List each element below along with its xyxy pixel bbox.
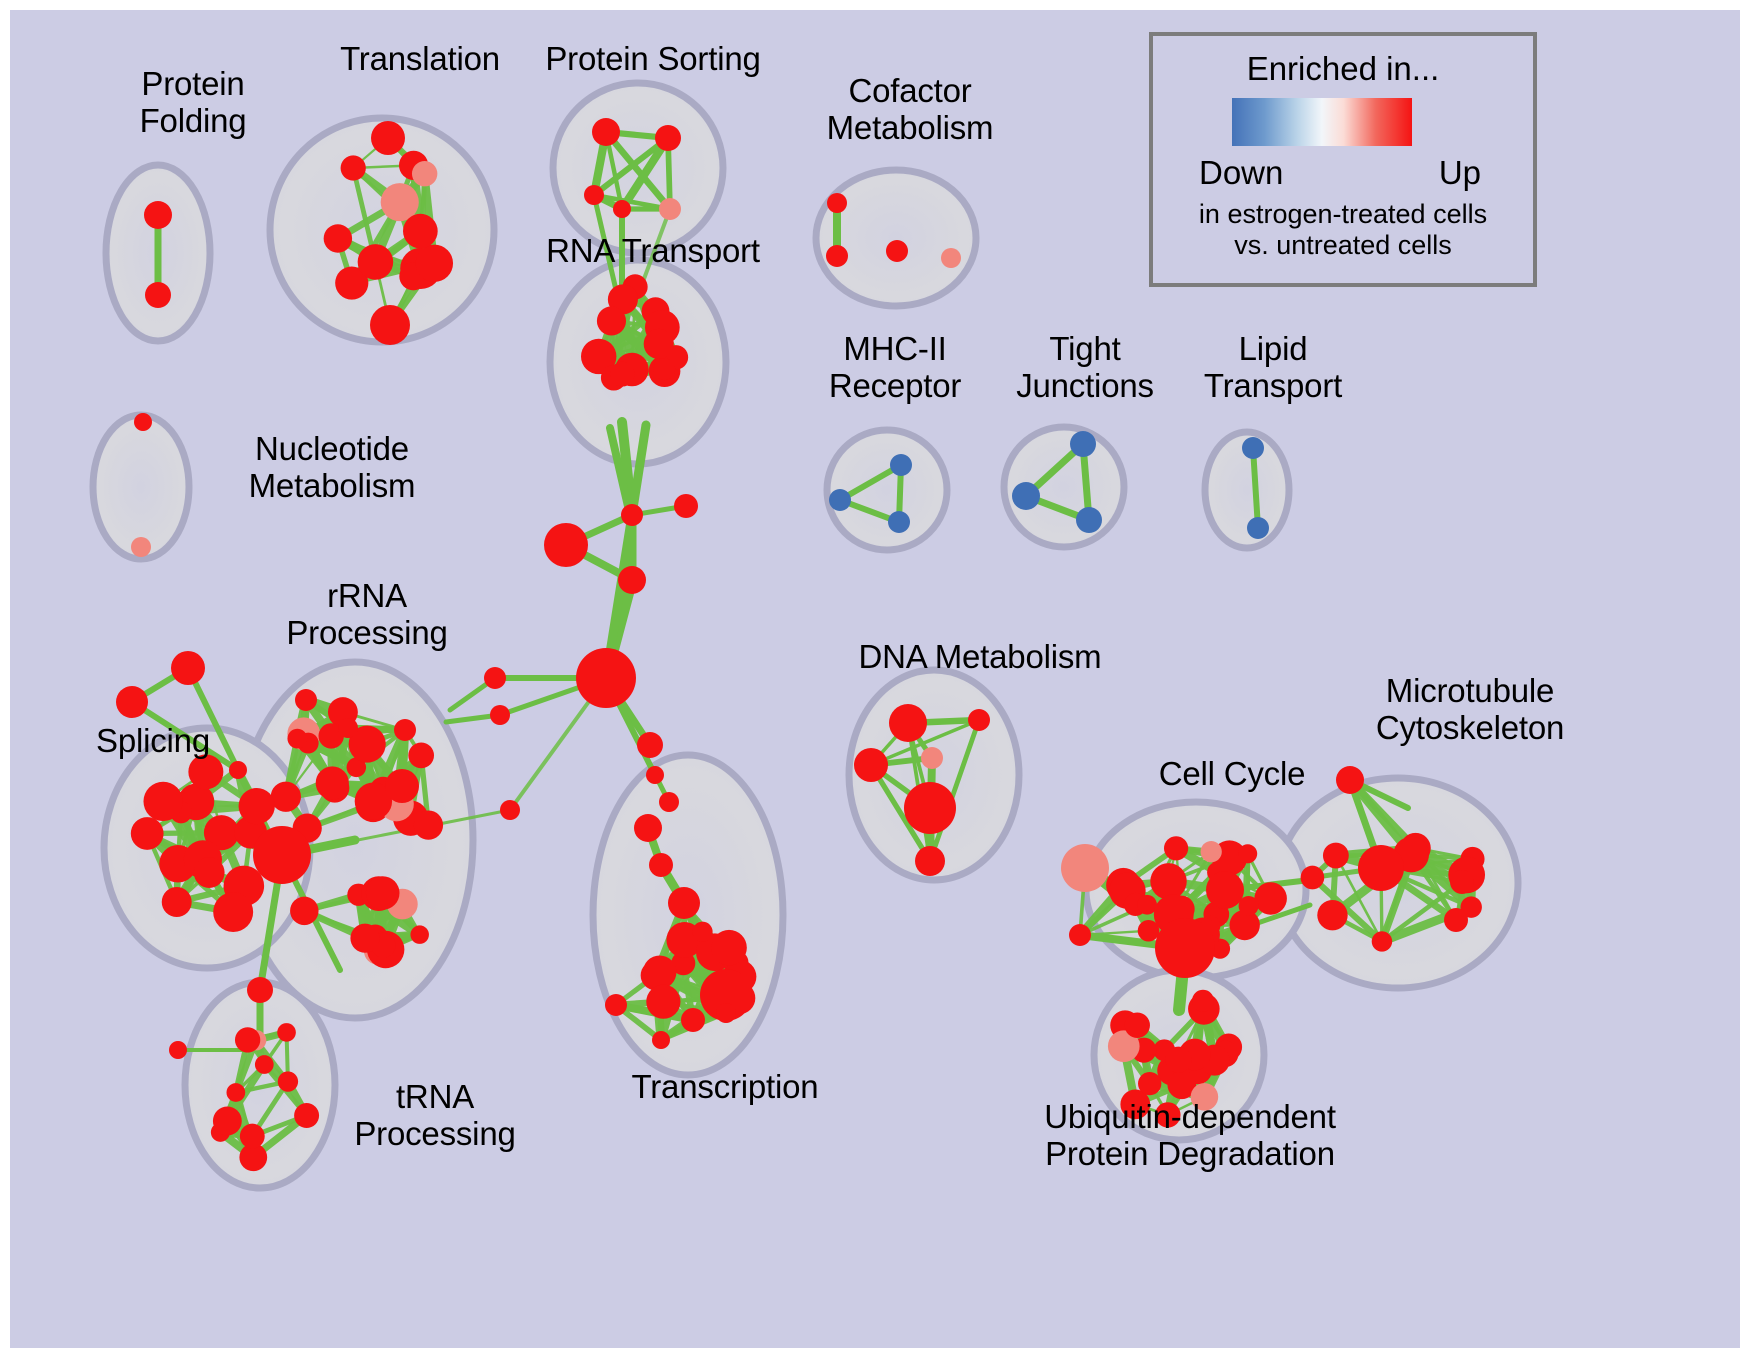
graph-node bbox=[213, 1107, 242, 1136]
graph-node bbox=[637, 732, 663, 758]
graph-node bbox=[652, 1031, 670, 1049]
graph-node bbox=[1201, 841, 1222, 862]
graph-node bbox=[408, 743, 434, 769]
graph-node bbox=[500, 800, 520, 820]
graph-node bbox=[1317, 900, 1347, 930]
cluster-label-transcription: Transcription bbox=[570, 1068, 880, 1105]
graph-node bbox=[826, 245, 848, 267]
graph-node bbox=[1254, 882, 1286, 914]
graph-node bbox=[644, 329, 674, 359]
graph-node bbox=[1206, 871, 1244, 909]
graph-node bbox=[653, 358, 675, 380]
cluster-label-protein-folding: Protein Folding bbox=[88, 65, 298, 139]
graph-node bbox=[316, 766, 349, 799]
graph-node bbox=[668, 887, 700, 919]
graph-node bbox=[605, 994, 627, 1016]
graph-node bbox=[371, 121, 405, 155]
graph-node bbox=[278, 1071, 298, 1091]
graph-node bbox=[287, 729, 307, 749]
graph-node bbox=[634, 814, 662, 842]
graph-node bbox=[659, 198, 681, 220]
graph-node bbox=[247, 977, 273, 1003]
graph-node bbox=[1358, 845, 1404, 891]
graph-node bbox=[240, 1124, 265, 1149]
graph-node bbox=[169, 1041, 187, 1059]
graph-node bbox=[194, 857, 225, 888]
graph-node bbox=[350, 924, 379, 953]
graph-node bbox=[490, 705, 510, 725]
cluster-label-dna-metabolism: DNA Metabolism bbox=[810, 638, 1150, 675]
graph-node bbox=[1069, 924, 1091, 946]
cluster-label-lipid-transport: Lipid Transport bbox=[1158, 330, 1388, 404]
graph-node bbox=[941, 248, 961, 268]
graph-node bbox=[692, 922, 712, 942]
graph-node bbox=[643, 955, 677, 989]
legend-high-label: Up bbox=[1439, 154, 1481, 192]
graph-node bbox=[1164, 836, 1188, 860]
legend-title: Enriched in... bbox=[1153, 50, 1533, 88]
graph-node bbox=[711, 930, 747, 966]
cluster-label-rna-transport: RNA Transport bbox=[488, 232, 818, 269]
legend-box: Enriched in... Down Up in estrogen-treat… bbox=[1149, 32, 1537, 287]
graph-node bbox=[888, 511, 910, 533]
graph-node bbox=[1155, 918, 1215, 978]
graph-node bbox=[1238, 844, 1257, 863]
graph-node bbox=[597, 306, 626, 335]
graph-node bbox=[271, 782, 301, 812]
graph-node bbox=[366, 876, 400, 910]
cluster-label-ubiquitin-protein-degradation: Ubiquitin-dependent Protein Degradation bbox=[990, 1098, 1390, 1172]
graph-node bbox=[277, 1023, 296, 1042]
cluster-label-rrna-processing: rRNA Processing bbox=[242, 577, 492, 651]
graph-node bbox=[1450, 870, 1474, 894]
graph-node bbox=[889, 704, 927, 742]
cluster-label-cell-cycle: Cell Cycle bbox=[1102, 755, 1362, 792]
graph-node bbox=[213, 892, 253, 932]
graph-node bbox=[131, 537, 151, 557]
graph-node bbox=[484, 667, 506, 689]
graph-node bbox=[385, 769, 419, 803]
graph-node bbox=[1076, 507, 1102, 533]
graph-node bbox=[338, 718, 358, 738]
graph-node bbox=[576, 648, 636, 708]
graph-node bbox=[290, 897, 318, 925]
graph-node bbox=[1165, 1047, 1191, 1073]
cluster-label-cofactor-metabolism: Cofactor Metabolism bbox=[770, 72, 1050, 146]
graph-node bbox=[827, 193, 847, 213]
graph-node bbox=[171, 651, 205, 685]
graph-node bbox=[1061, 844, 1109, 892]
graph-node bbox=[358, 244, 394, 280]
graph-node bbox=[904, 782, 956, 834]
graph-node bbox=[584, 185, 604, 205]
graph-node bbox=[646, 766, 664, 784]
cluster-label-protein-sorting: Protein Sorting bbox=[488, 40, 818, 77]
cluster-label-splicing: Splicing bbox=[58, 722, 248, 759]
graph-node bbox=[659, 792, 679, 812]
graph-node bbox=[1137, 895, 1157, 915]
graph-node bbox=[134, 413, 152, 431]
graph-node bbox=[394, 719, 416, 741]
graph-node bbox=[255, 1055, 274, 1074]
graph-node bbox=[416, 245, 453, 282]
graph-node bbox=[890, 454, 912, 476]
graph-node bbox=[681, 1008, 705, 1032]
graph-node bbox=[145, 282, 171, 308]
graph-node bbox=[613, 200, 631, 218]
graph-node bbox=[915, 846, 945, 876]
cluster-label-nucleotide-metabolism: Nucleotide Metabolism bbox=[192, 430, 472, 504]
graph-node bbox=[116, 686, 148, 718]
graph-node bbox=[239, 788, 275, 824]
graph-node bbox=[1138, 1072, 1161, 1095]
graph-node bbox=[854, 748, 888, 782]
graph-node bbox=[1125, 1013, 1150, 1038]
graph-node bbox=[1150, 863, 1186, 899]
legend-caption: in estrogen-treated cells vs. untreated … bbox=[1153, 199, 1533, 261]
graph-node bbox=[235, 1027, 260, 1052]
cluster-label-trna-processing: tRNA Processing bbox=[310, 1078, 560, 1152]
graph-node bbox=[1012, 482, 1040, 510]
graph-node bbox=[1444, 908, 1468, 932]
graph-node bbox=[968, 709, 990, 731]
graph-node bbox=[414, 810, 443, 839]
graph-node bbox=[886, 240, 908, 262]
graph-node bbox=[674, 494, 698, 518]
graph-node bbox=[649, 853, 673, 877]
graph-node bbox=[341, 155, 366, 180]
legend-low-label: Down bbox=[1199, 154, 1283, 192]
graph-node bbox=[324, 224, 352, 252]
graph-node bbox=[370, 305, 410, 345]
graph-node bbox=[655, 125, 681, 151]
graph-node bbox=[592, 118, 620, 146]
graph-node bbox=[829, 489, 851, 511]
graph-node bbox=[544, 523, 588, 567]
graph-node bbox=[1242, 437, 1264, 459]
graph-node bbox=[410, 925, 428, 943]
graph-node bbox=[1192, 990, 1214, 1012]
legend-color-gradient bbox=[1232, 98, 1412, 146]
graph-node bbox=[403, 214, 438, 249]
graph-node bbox=[618, 566, 646, 594]
graph-node bbox=[1070, 431, 1096, 457]
graph-node bbox=[716, 1003, 736, 1023]
graph-node bbox=[253, 826, 311, 884]
graph-node bbox=[162, 887, 192, 917]
graph-node bbox=[621, 504, 643, 526]
graph-node bbox=[610, 362, 635, 387]
figure-stage: Protein FoldingTranslationProtein Sortin… bbox=[0, 0, 1750, 1360]
graph-node bbox=[143, 782, 182, 821]
graph-node bbox=[229, 761, 247, 779]
network-canvas: Protein FoldingTranslationProtein Sortin… bbox=[10, 10, 1740, 1348]
graph-node bbox=[226, 1083, 245, 1102]
graph-node bbox=[921, 747, 943, 769]
graph-node bbox=[131, 817, 164, 850]
graph-node bbox=[144, 201, 172, 229]
graph-node bbox=[188, 754, 223, 789]
cluster-label-microtubule-cytoskeleton: Microtubule Cytoskeleton bbox=[1310, 672, 1630, 746]
graph-node bbox=[1323, 843, 1349, 869]
graph-node bbox=[295, 689, 317, 711]
graph-node bbox=[1247, 517, 1269, 539]
graph-node bbox=[1301, 866, 1325, 890]
graph-node bbox=[646, 985, 680, 1019]
graph-node bbox=[412, 161, 437, 186]
graph-node bbox=[1372, 931, 1392, 951]
